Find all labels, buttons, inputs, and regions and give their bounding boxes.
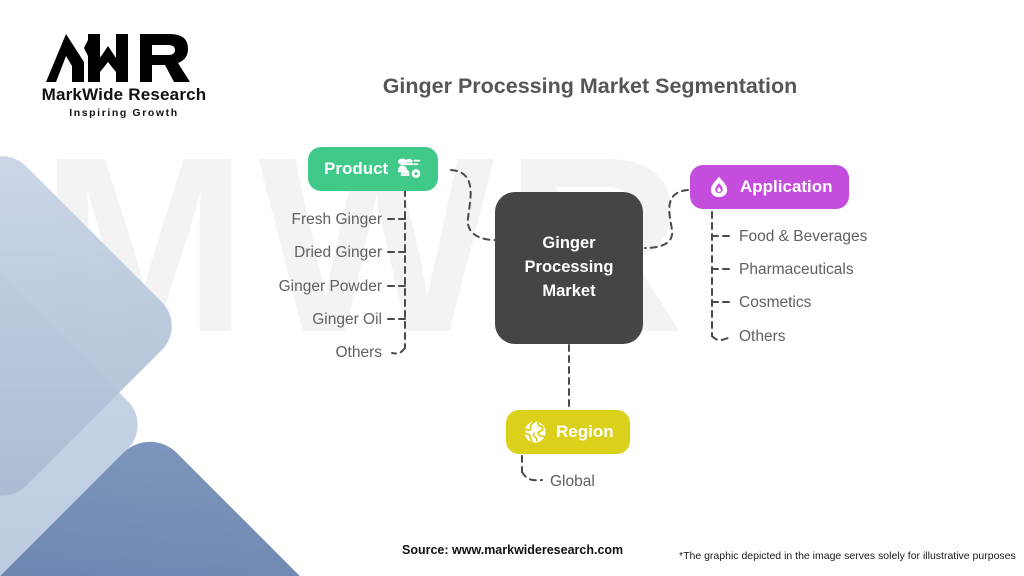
branch-label-product: Product [324,159,388,179]
leaf-application-3[interactable]: Others [739,328,786,346]
connector-region-leaf-0 [522,472,542,480]
leaf-application-0[interactable]: Food & Beverages [739,228,867,246]
brand-logo: MarkWide Research Inspiring Growth [24,32,224,119]
source-text: Source: www.markwideresearch.com [402,543,623,557]
center-node-line-3: Market [525,280,614,304]
mwr-monogram-icon [44,32,204,84]
center-node[interactable]: Ginger Processing Market [495,192,643,344]
leaf-product-4[interactable]: Others [132,344,382,362]
brand-tagline: Inspiring Growth [24,107,224,119]
leaf-product-2[interactable]: Ginger Powder [132,278,382,296]
center-node-line-2: Processing [525,256,614,280]
branch-badge-application[interactable]: Application [690,165,849,209]
leaf-product-1[interactable]: Dried Ginger [132,244,382,262]
ginger-produce-icon [396,156,422,182]
leaf-region-0[interactable]: Global [550,473,595,491]
branch-label-region: Region [556,422,614,442]
infographic-canvas: MWR MarkWide Research Inspiring Growth G… [0,0,1024,576]
leaf-application-2[interactable]: Cosmetics [739,294,811,312]
branch-label-application: Application [740,177,833,197]
branch-badge-region[interactable]: Region [506,410,630,454]
leaf-application-1[interactable]: Pharmaceuticals [739,261,854,279]
disclaimer-text: *The graphic depicted in the image serve… [679,550,1016,562]
center-node-label: Ginger Processing Market [525,232,614,304]
center-node-line-1: Ginger [525,232,614,256]
page-title: Ginger Processing Market Segmentation [300,74,880,99]
leaf-product-3[interactable]: Ginger Oil [132,311,382,329]
flame-icon [706,174,732,200]
branch-badge-product[interactable]: Product [308,147,438,191]
globe-icon [522,419,548,445]
leaf-product-0[interactable]: Fresh Ginger [132,211,382,229]
brand-name: MarkWide Research [24,85,224,105]
